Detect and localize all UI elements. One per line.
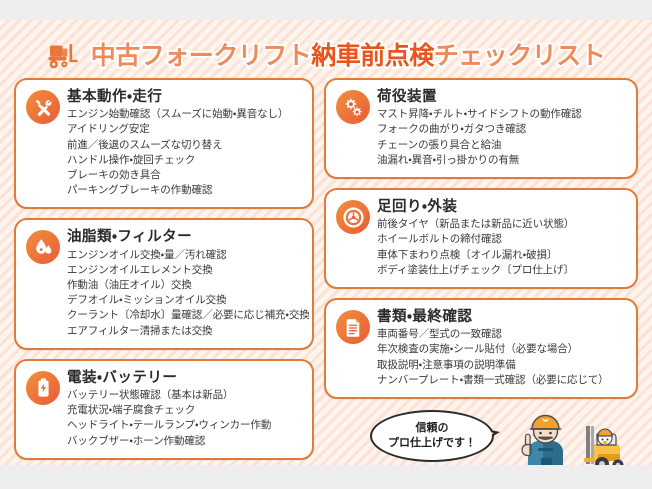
list-item: バッテリー状態確認（基本は新品） (67, 388, 302, 403)
right-column: 荷役装置 マスト昇降・チルト・サイドシフトの動作確認 フォークの曲がり・ガタつき… (324, 78, 638, 460)
title-highlight: 納車前点検 (311, 42, 434, 70)
title-prefix: 中古フォークリフト (91, 42, 312, 70)
battery-icon (26, 371, 60, 405)
card-item-list: 前後タイヤ（新品または新品に近い状態） ホイールボルトの締付確認 車体下まわり点… (377, 217, 626, 278)
card-title: 油脂類・フィルター (67, 228, 302, 246)
list-item: デフオイル・ミッションオイル交換 (67, 293, 302, 308)
tire-wheel-icon (336, 200, 370, 234)
list-item: フォークの曲がり・ガタつき確認 (377, 122, 626, 137)
card-documents-final-check[interactable]: 書類・最終確認 車両番号／型式の一致確認 年次検査の実施・シール貼付（必要な場合… (324, 298, 638, 399)
list-item: ボディ塗装仕上げチェック〔プロ仕上げ〕 (377, 263, 626, 278)
oil-droplet-icon (26, 230, 60, 264)
card-body: 基本動作・走行 エンジン始動確認（スムーズに始動・異音なし） アイドリング安定 … (67, 88, 302, 198)
list-item: ハンドル操作・旋回チェック (67, 153, 302, 168)
title-suffix: チェックリスト (434, 42, 606, 70)
list-item: エンジン始動確認（スムーズに始動・異音なし） (67, 107, 302, 122)
page-title: 中古フォークリフト納車前点検チェックリスト (0, 34, 652, 78)
card-item-list: 車両番号／型式の一致確認 年次検査の実施・シール貼付（必要な場合） 取扱説明・注… (377, 327, 626, 388)
list-item: 油漏れ・異音・引っ掛かりの有無 (377, 153, 626, 168)
card-basic-operation[interactable]: 基本動作・走行 エンジン始動確認（スムーズに始動・異音なし） アイドリング安定 … (14, 78, 314, 209)
document-icon (336, 310, 370, 344)
card-title: 基本動作・走行 (67, 88, 302, 106)
card-title: 電装・バッテリー (67, 369, 302, 387)
list-item: 取扱説明・注意事項の説明準備 (377, 358, 626, 373)
list-item: ヘッドライト・テールランプ・ウィンカー作動 (67, 418, 302, 433)
list-item: ホイールボルトの締付確認 (377, 232, 626, 247)
list-item: マスト昇降・チルト・サイドシフトの動作確認 (377, 107, 626, 122)
list-item: 作動油（油圧オイル）交換 (67, 278, 302, 293)
list-item: 車体下まわり点検〔オイル漏れ・破損〕 (377, 248, 626, 263)
wrench-screwdriver-icon (26, 90, 60, 124)
top-gray-band (0, 0, 652, 20)
card-cargo-handling[interactable]: 荷役装置 マスト昇降・チルト・サイドシフトの動作確認 フォークの曲がり・ガタつき… (324, 78, 638, 179)
card-undercarriage-exterior[interactable]: 足回り・外装 前後タイヤ（新品または新品に近い状態） ホイールボルトの締付確認 … (324, 188, 638, 289)
card-title: 書類・最終確認 (377, 308, 626, 326)
bottom-gray-band (0, 465, 652, 489)
list-item: アイドリング安定 (67, 122, 302, 137)
list-item: 車両番号／型式の一致確認 (377, 327, 626, 342)
list-item: パーキングブレーキの作動確認 (67, 183, 302, 198)
mascot-area: 信頼の プロ仕上げです！ (370, 408, 640, 465)
card-item-list: バッテリー状態確認（基本は新品） 充電状況・端子腐食チェック ヘッドライト・テー… (67, 388, 302, 449)
list-item: エアフィルター清掃または交換 (67, 324, 302, 339)
card-item-list: エンジン始動確認（スムーズに始動・異音なし） アイドリング安定 前進／後退のスム… (67, 107, 302, 198)
card-body: 足回り・外装 前後タイヤ（新品または新品に近い状態） ホイールボルトの締付確認 … (377, 198, 626, 278)
list-item: バックブザー・ホーン作動確認 (67, 434, 302, 449)
gears-icon (336, 90, 370, 124)
list-item: 充電状況・端子腐食チェック (67, 403, 302, 418)
list-item: 前後タイヤ（新品または新品に近い状態） (377, 217, 626, 232)
card-item-list: マスト昇降・チルト・サイドシフトの動作確認 フォークの曲がり・ガタつき確認 チェ… (377, 107, 626, 168)
list-item: エンジンオイルエレメント交換 (67, 263, 302, 278)
card-title: 足回り・外装 (377, 198, 626, 216)
page-title-text: 中古フォークリフト納車前点検チェックリスト (91, 44, 606, 69)
speech-bubble-line-2: プロ仕上げです！ (388, 436, 476, 451)
worker-thumbs-up-icon (522, 416, 563, 466)
card-title: 荷役装置 (377, 88, 626, 106)
list-item: クーラント〔冷却水〕量確認／必要に応じ補充・交換 (67, 308, 302, 323)
speech-bubble: 信頼の プロ仕上げです！ (370, 410, 494, 462)
card-body: 書類・最終確認 車両番号／型式の一致確認 年次検査の実施・シール貼付（必要な場合… (377, 308, 626, 388)
infographic-canvas: 中古フォークリフト納車前点検チェックリスト (0, 20, 652, 465)
speech-bubble-tail-inner (480, 430, 494, 441)
card-electrical-battery[interactable]: 電装・バッテリー バッテリー状態確認（基本は新品） 充電状況・端子腐食チェック … (14, 359, 314, 460)
list-item: 年次検査の実施・シール貼付（必要な場合） (377, 342, 626, 357)
left-column: 基本動作・走行 エンジン始動確認（スムーズに始動・異音なし） アイドリング安定 … (14, 78, 314, 460)
list-item: ナンバープレート・書類一式確認（必要に応じて） (377, 373, 626, 388)
mascot-forklift-icon (584, 426, 624, 465)
mascot-illustration (498, 408, 638, 465)
speech-bubble-line-1: 信頼の (416, 421, 449, 436)
list-item: 前進／後退のスムーズな切り替え (67, 138, 302, 153)
card-body: 油脂類・フィルター エンジンオイル交換・量／汚れ確認 エンジンオイルエレメント交… (67, 228, 302, 338)
card-body: 電装・バッテリー バッテリー状態確認（基本は新品） 充電状況・端子腐食チェック … (67, 369, 302, 449)
card-item-list: エンジンオイル交換・量／汚れ確認 エンジンオイルエレメント交換 作動油（油圧オイ… (67, 248, 302, 339)
card-body: 荷役装置 マスト昇降・チルト・サイドシフトの動作確認 フォークの曲がり・ガタつき… (377, 88, 626, 168)
forklift-icon (47, 41, 83, 71)
checklist-columns: 基本動作・走行 エンジン始動確認（スムーズに始動・異音なし） アイドリング安定 … (0, 78, 652, 460)
list-item: エンジンオイル交換・量／汚れ確認 (67, 248, 302, 263)
list-item: ブレーキの効き具合 (67, 168, 302, 183)
card-oils-filters[interactable]: 油脂類・フィルター エンジンオイル交換・量／汚れ確認 エンジンオイルエレメント交… (14, 218, 314, 349)
list-item: チェーンの張り具合と給油 (377, 138, 626, 153)
